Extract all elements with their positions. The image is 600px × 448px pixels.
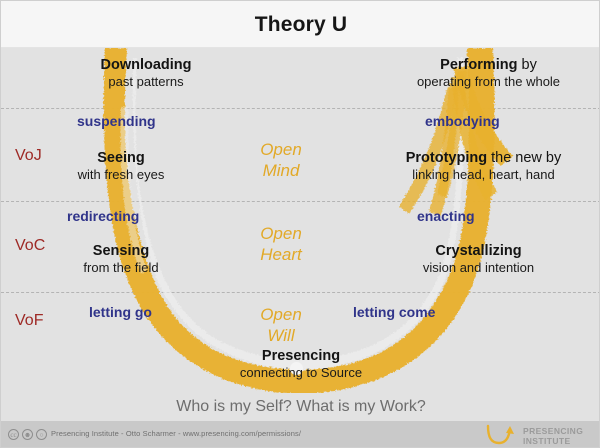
divider-vof-top xyxy=(1,292,600,293)
logo-line-1: PRESENCING xyxy=(523,426,583,436)
stage-downloading-title: Downloading xyxy=(51,57,241,74)
gesture-letting-come: letting come xyxy=(353,304,435,320)
stage-crystallizing: Crystallizing vision and intention xyxy=(371,243,586,276)
logo-line-2: INSTITUTE xyxy=(523,436,583,446)
open-state-will-line2: Will xyxy=(211,325,351,346)
stage-prototyping: Prototyping the new by linking head, hea… xyxy=(371,150,596,183)
voice-label-vof: VoF xyxy=(15,312,43,330)
stage-performing: Performing by operating from the whole xyxy=(381,57,596,90)
stage-prototyping-title: Prototyping the new by xyxy=(371,150,596,167)
stage-performing-title: Performing by xyxy=(381,57,596,74)
stage-downloading-subtitle: past patterns xyxy=(51,74,241,90)
gesture-redirecting: redirecting xyxy=(67,208,139,224)
open-state-will: Open Will xyxy=(211,304,351,346)
cc-icon: cc xyxy=(8,429,19,440)
open-state-heart: Open Heart xyxy=(211,223,351,265)
divider-voj-top xyxy=(1,108,600,109)
diagram-header: Theory U xyxy=(1,1,600,48)
stage-seeing: Seeing with fresh eyes xyxy=(46,150,196,183)
stage-sensing: Sensing from the field xyxy=(46,243,196,276)
stage-seeing-subtitle: with fresh eyes xyxy=(46,167,196,183)
open-state-mind: Open Mind xyxy=(211,139,351,181)
page-title: Theory U xyxy=(1,13,600,37)
divider-voc-top xyxy=(1,201,600,202)
stage-presencing-subtitle: connecting to Source xyxy=(191,365,411,381)
stage-downloading: Downloading past patterns xyxy=(51,57,241,90)
stage-presencing: Presencing connecting to Source xyxy=(191,348,411,381)
theory-u-diagram: Theory U D xyxy=(0,0,600,448)
gesture-enacting: enacting xyxy=(417,208,475,224)
gesture-suspending: suspending xyxy=(77,113,156,129)
logo-wordmark: PRESENCING INSTITUTE xyxy=(523,426,583,446)
open-state-will-line1: Open xyxy=(211,304,351,325)
gesture-embodying: embodying xyxy=(425,113,500,129)
open-state-mind-line1: Open xyxy=(211,139,351,160)
presencing-institute-logo: PRESENCING INSTITUTE xyxy=(483,424,595,447)
cc-nc-icon: ○ xyxy=(36,429,47,440)
open-state-heart-line1: Open xyxy=(211,223,351,244)
footer-credit: Presencing Institute - Otto Scharmer - w… xyxy=(51,429,301,438)
stage-performing-subtitle: operating from the whole xyxy=(381,74,596,90)
voice-label-voc: VoC xyxy=(15,237,45,255)
voice-label-voj: VoJ xyxy=(15,147,42,165)
stage-sensing-title: Sensing xyxy=(46,243,196,260)
gesture-letting-go: letting go xyxy=(89,304,152,320)
stage-prototyping-subtitle: linking head, heart, hand xyxy=(371,167,596,183)
open-state-heart-line2: Heart xyxy=(211,244,351,265)
stage-crystallizing-subtitle: vision and intention xyxy=(371,260,586,276)
stage-seeing-title: Seeing xyxy=(46,150,196,167)
presencing-u-arrow-icon xyxy=(483,424,519,447)
diagram-footer: cc ☻ ○ Presencing Institute - Otto Schar… xyxy=(1,421,600,448)
cc-by-icon: ☻ xyxy=(22,429,33,440)
creative-commons-icons: cc ☻ ○ xyxy=(8,429,47,440)
reflection-question: Who is my Self? What is my Work? xyxy=(1,393,600,421)
open-state-mind-line2: Mind xyxy=(211,160,351,181)
stage-sensing-subtitle: from the field xyxy=(46,260,196,276)
stage-presencing-title: Presencing xyxy=(191,348,411,365)
stage-crystallizing-title: Crystallizing xyxy=(371,243,586,260)
